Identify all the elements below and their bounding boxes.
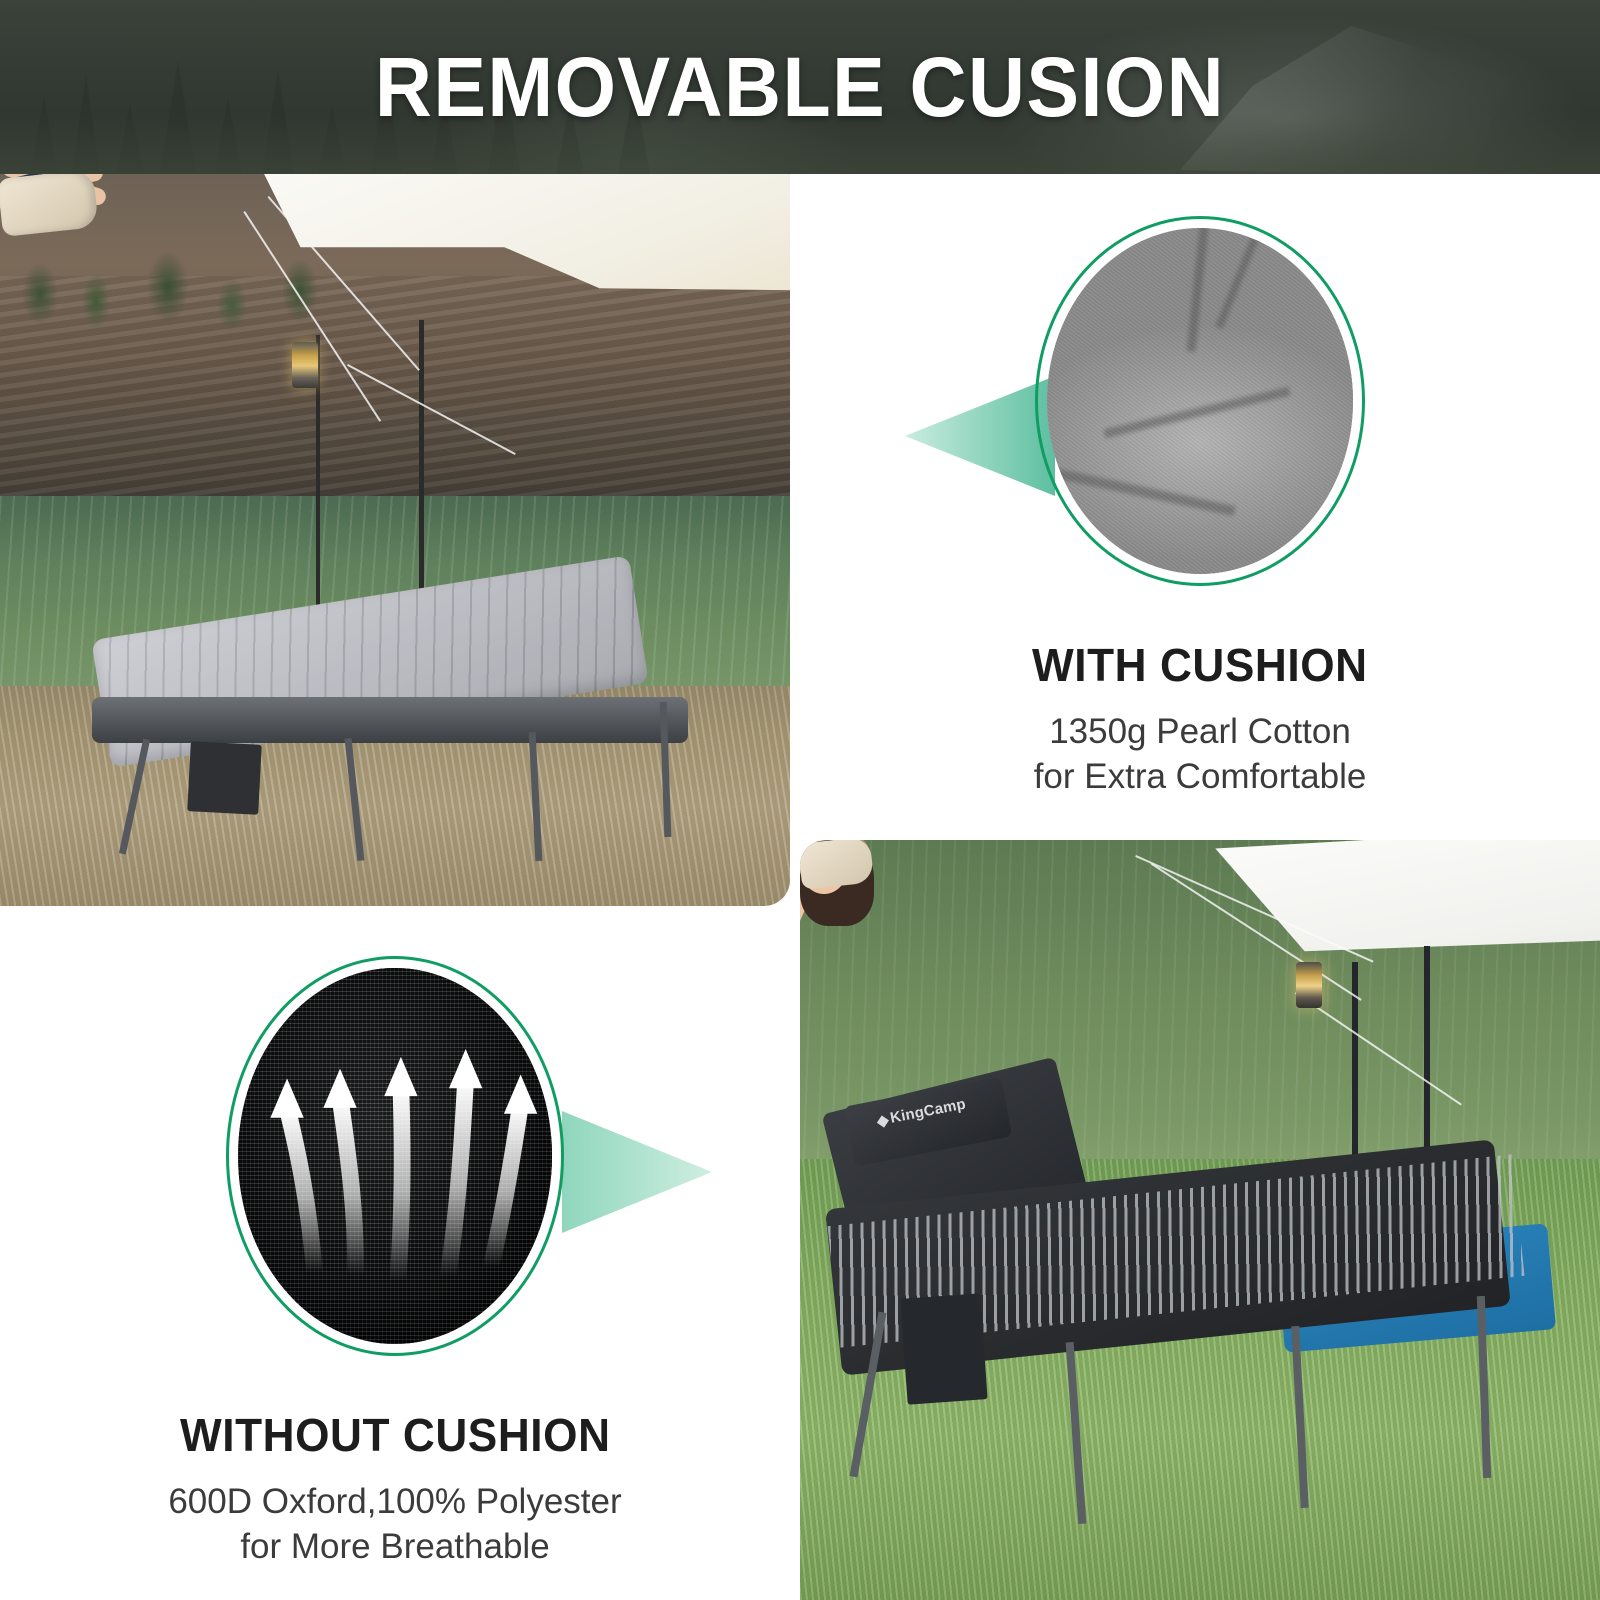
without-cushion-medallion-wrap [226,956,564,1356]
camping-lantern-icon [292,342,318,388]
without-cushion-subtitle-line2: for More Breathable [168,1525,621,1570]
feature-without-cushion: WITHOUT CUSHION 600D Oxford,100% Polyest… [0,906,790,1600]
lakeside-scene [0,174,790,906]
left-pointing-triangle-icon [905,376,1055,496]
camping-cot [79,562,727,855]
without-cushion-title: WITHOUT CUSHION [180,1408,611,1462]
airflow-arrows-icon [238,968,552,1344]
with-cushion-medallion-wrap [1035,216,1365,586]
right-pointing-triangle-icon [562,1111,712,1233]
with-cushion-subtitle: 1350g Pearl Cotton for Extra Comfortable [1034,710,1367,800]
without-cushion-subtitle: 600D Oxford,100% Polyester for More Brea… [168,1480,621,1570]
without-cushion-subtitle-line1: 600D Oxford,100% Polyester [168,1480,621,1525]
cot-leg [529,732,543,861]
with-cushion-title: WITH CUSHION [1032,638,1368,692]
header-banner: REMOVABLE CUSION [0,0,1600,174]
kingcamp-mark-icon: ◆ [875,1110,890,1130]
with-cushion-subtitle-line2: for Extra Comfortable [1034,755,1367,800]
fabric-grain [1047,228,1353,574]
feature-with-cushion: WITH CUSHION 1350g Pearl Cotton for Extr… [800,174,1600,840]
with-cushion-subtitle-line1: 1350g Pearl Cotton [1034,710,1367,755]
without-cushion-medallion [226,956,564,1356]
cushion-closeup-image [1047,228,1353,574]
cot-frame-rail [92,697,688,744]
camping-lantern-icon [1296,962,1322,1008]
with-cushion-medallion [1035,216,1365,586]
cot-leg [345,738,365,861]
side-pocket [187,742,262,816]
oxford-mesh-closeup-image [238,968,552,1344]
side-pocket [900,1293,987,1405]
page-title: REMOVABLE CUSION [48,0,1552,174]
photo-man-on-cushioned-cot [0,174,790,906]
photo-couple-selfie-on-cot: ◆KingCamp [800,840,1600,1600]
grass-lakeside-scene: ◆KingCamp [800,840,1600,1600]
